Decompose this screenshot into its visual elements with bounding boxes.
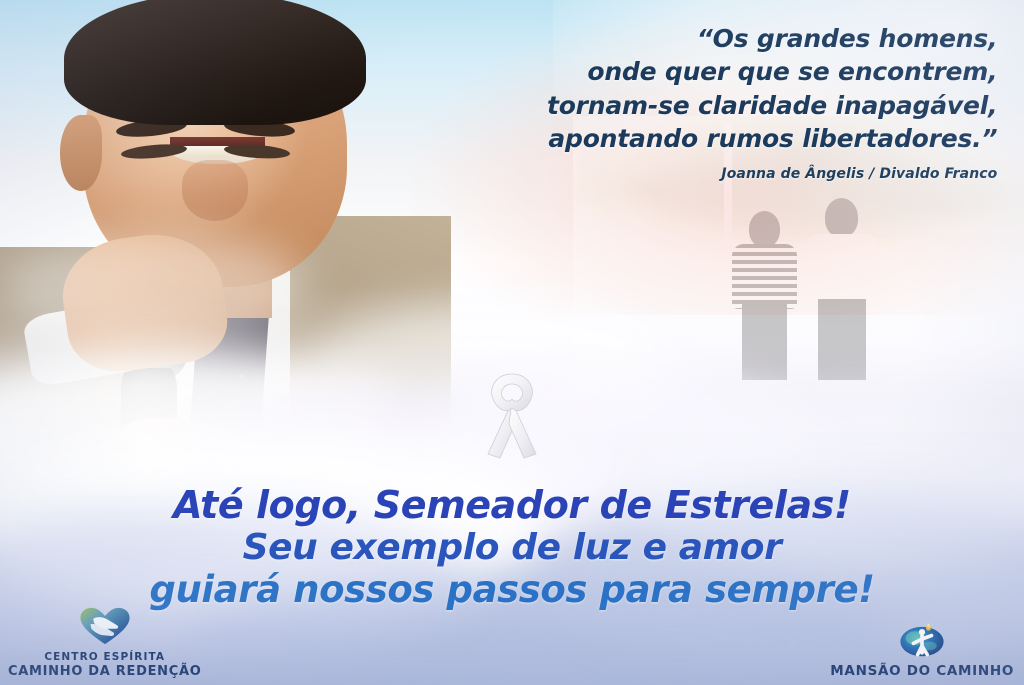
subject-photo: [0, 0, 451, 500]
bg-person-head: [749, 211, 780, 247]
logo-left-line-1: CENTRO ESPÍRITA: [8, 651, 202, 663]
tribute-poster: “Os grandes homens, onde quer que se enc…: [0, 0, 1024, 685]
bg-person-legs: [742, 304, 787, 379]
quote-line-1: “Os grandes homens,: [424, 22, 997, 56]
headline-line-1: Até logo, Semeador de Estrelas!: [0, 483, 1024, 527]
hair: [64, 0, 365, 125]
bg-person-head: [825, 198, 858, 237]
footer-logos: CENTRO ESPÍRITA CAMINHO DA REDENÇÃO: [0, 611, 1024, 685]
globe-figure-icon: [896, 620, 948, 663]
ear: [60, 115, 102, 191]
white-ribbon-icon: [475, 368, 549, 460]
quote-line-2: onde quer que se encontrem,: [424, 55, 997, 89]
bg-person-legs: [818, 299, 866, 380]
bg-person-striped: [729, 211, 800, 375]
logo-left-line-2: CAMINHO DA REDENÇÃO: [8, 664, 202, 679]
logo-centro-espirita[interactable]: CENTRO ESPÍRITA CAMINHO DA REDENÇÃO: [8, 606, 202, 679]
subject-photo-mask: [0, 0, 451, 500]
quote-attribution: Joanna de Ângelis / Divaldo Franco: [424, 166, 997, 182]
bg-person-torso: [807, 234, 876, 305]
logo-mansao-do-caminho[interactable]: MANSÃO DO CAMINHO: [830, 620, 1014, 679]
headline-block: Até logo, Semeador de Estrelas! Seu exem…: [0, 483, 1024, 612]
logo-centro-espirita-text: CENTRO ESPÍRITA CAMINHO DA REDENÇÃO: [8, 651, 202, 679]
heart-hands-icon: [77, 606, 133, 651]
quote-line-3: tornam-se claridade inapagável,: [424, 89, 997, 123]
bg-person-torso: [732, 244, 797, 310]
logo-mansao-text: MANSÃO DO CAMINHO: [830, 663, 1014, 679]
bg-person-light: [804, 198, 879, 374]
nose: [182, 160, 248, 221]
logo-right-line-1: MANSÃO DO CAMINHO: [830, 663, 1014, 679]
quote-line-4: apontando rumos libertadores.”: [424, 122, 997, 156]
headline-line-2: Seu exemplo de luz e amor: [0, 527, 1024, 569]
quote-block: “Os grandes homens, onde quer que se enc…: [424, 22, 997, 182]
